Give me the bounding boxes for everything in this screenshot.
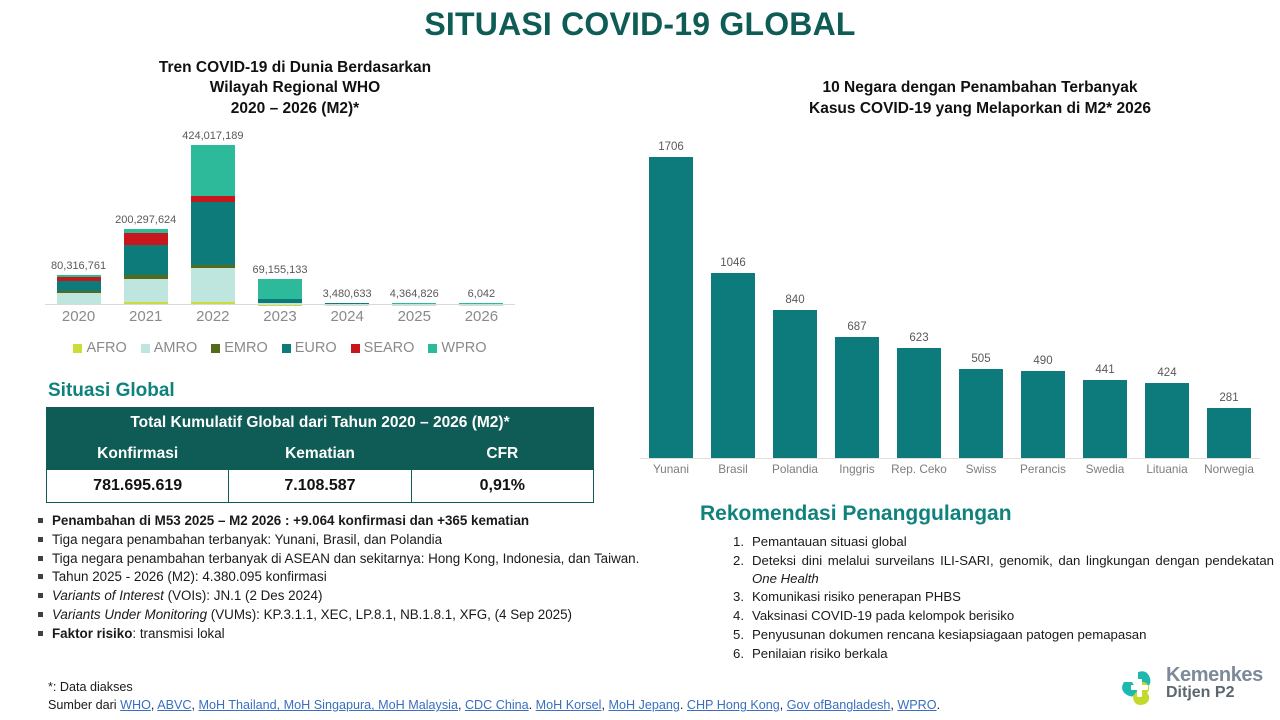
left-chart-title: Tren COVID-19 di Dunia Berdasarkan Wilay… [60,58,530,119]
kemenkes-logo: Kemenkes Ditjen P2 [1118,668,1278,720]
x-axis-label: 2025 [381,308,448,325]
bar [1021,371,1065,458]
legend-item-euro: EURO [282,340,337,356]
bar-stack [124,229,168,305]
bar-group: 505 [950,353,1012,458]
bar-segment-amro [124,279,168,303]
bar-total-label: 6,042 [468,288,496,300]
source-separator: , [780,698,787,712]
bar-group: 6,042 [448,288,515,305]
rekomendasi-item: 6.Penilaian risiko berkala [722,645,1274,663]
situasi-global-heading: Situasi Global [48,380,175,402]
bar-segment-euro [124,245,168,275]
legend-item-amro: AMRO [141,340,198,356]
bar-group: 424,017,189 [179,130,246,305]
legend-item-searo: SEARO [351,340,415,356]
bullet-text: Tiga negara penambahan terbanyak di ASEA… [52,551,639,566]
source-line-2: Sumber dari WHO, ABVC, MoH Thailand, MoH… [48,696,1108,714]
bar-group: 840 [764,294,826,458]
rekomendasi-item: 4.Vaksinasi COVID-19 pada kelompok beris… [722,607,1274,625]
bar-total-label: 69,155,133 [252,264,307,276]
bullet-item: Tahun 2025 - 2026 (M2): 4.380.095 konfir… [32,568,700,586]
bullet-item: Tiga negara penambahan terbanyak: Yunani… [32,531,700,549]
x-axis-label: Swiss [950,462,1012,476]
source-link[interactable]: MoH Korsel [536,698,602,712]
bar [835,337,879,458]
source-separator: , [192,698,199,712]
rekomendasi-item: 5.Penyusunan dokumen rencana kesiapsiaga… [722,626,1274,644]
bar [1145,383,1189,458]
rekomendasi-item: 1.Pemantauan situasi global [722,533,1274,551]
source-separator: . [680,698,687,712]
left-chart-title-line-1: Tren COVID-19 di Dunia Berdasarkan [60,58,530,78]
bar-segment-euro [57,281,101,291]
bar-total-label: 4,364,826 [390,288,439,300]
bar-value-label: 490 [1033,355,1052,367]
source-link[interactable]: Gov ofBangladesh [787,698,891,712]
source-separator: . [937,698,941,712]
top10-bar-chart: 17061046840687623505490441424281 [640,118,1260,458]
legend-swatch-icon [141,344,150,353]
bar-total-label: 200,297,624 [115,214,176,226]
bar-group: 623 [888,332,950,458]
x-axis-label: 2022 [179,308,246,325]
bar-value-label: 687 [847,321,866,333]
rekomendasi-list: 1.Pemantauan situasi global2.Deteksi din… [722,533,1274,664]
legend-label: SEARO [364,340,415,356]
x-axis-label: Norwegia [1198,462,1260,476]
legend-swatch-icon [211,344,220,353]
situasi-bullet-list: Penambahan di M53 2025 – M2 2026 : +9.06… [32,512,700,644]
stacked-bar-chart: 80,316,761200,297,624424,017,18969,155,1… [45,120,515,305]
bar [1207,408,1251,458]
right-chart-title-line-2: Kasus COVID-19 yang Melaporkan di M2* 20… [690,99,1270,120]
source-link[interactable]: CHP Hong Kong [687,698,780,712]
source-link[interactable]: WPRO [897,698,936,712]
bar [1083,380,1127,458]
rekomendasi-italic-suffix: One Health [752,571,819,586]
right-chart-title-line-1: 10 Negara dengan Penambahan Terbanyak [690,78,1270,99]
legend-label: EMRO [224,340,268,356]
bar-group: 281 [1198,392,1260,458]
bar-value-label: 1706 [658,141,684,153]
x-axis-label: Polandia [764,462,826,476]
rekomendasi-heading: Rekomendasi Penanggulangan [700,502,1012,526]
bar-total-label: 424,017,189 [182,130,243,142]
rekomendasi-number: 5. [722,626,744,644]
x-axis-label: Inggris [826,462,888,476]
x-axis-label: 2020 [45,308,112,325]
bullet-text: Tahun 2025 - 2026 (M2): 4.380.095 konfir… [52,569,327,584]
bullet-text: Penambahan di M53 2025 – M2 2026 : +9.06… [52,513,529,528]
bar-total-label: 80,316,761 [51,260,106,272]
bullet-item: Variants of Interest (VOIs): JN.1 (2 Des… [32,587,700,605]
bar-stack [57,275,101,305]
x-axis-label: Rep. Ceko [888,462,950,476]
right-chart-axis [640,458,1260,459]
bar-value-label: 1046 [720,257,746,269]
bar-segment-searo [124,233,168,245]
x-axis-label: Brasil [702,462,764,476]
bar [711,273,755,458]
legend-item-afro: AFRO [73,340,126,356]
bar-group: 1706 [640,141,702,458]
bar [959,369,1003,458]
bar-value-label: 623 [909,332,928,344]
source-link[interactable]: WHO [120,698,151,712]
bullet-item: Faktor risiko: transmisi lokal [32,625,700,643]
table-header-row: Konfirmasi Kematian CFR [47,439,594,470]
bar [649,157,693,458]
table-header-kematian: Kematian [229,439,411,470]
bar-segment-amro [191,268,235,302]
source-note: *: Data diakses Sumber dari WHO, ABVC, M… [48,678,1108,715]
bar-stack [258,279,302,305]
source-separator: . [529,698,536,712]
rekomendasi-number: 1. [722,533,744,551]
legend-swatch-icon [73,344,82,353]
bullet-text: (VUMs): KP.3.1.1, XEC, LP.8.1, NB.1.8.1,… [207,607,572,622]
legend-item-emro: EMRO [211,340,268,356]
left-chart-title-line-3: 2020 – 2026 (M2)* [60,99,530,119]
x-axis-label: Lituania [1136,462,1198,476]
table-title-row: Total Kumulatif Global dari Tahun 2020 –… [47,408,594,439]
table-header-cfr: CFR [411,439,593,470]
bullet-item: Penambahan di M53 2025 – M2 2026 : +9.06… [32,512,700,530]
legend-swatch-icon [428,344,437,353]
bullet-item: Variants Under Monitoring (VUMs): KP.3.1… [32,606,700,624]
rekomendasi-text: Deteksi dini melalui surveilans ILI-SARI… [752,553,1274,568]
bar-segment-euro [191,202,235,265]
bar-segment-wpro [191,145,235,196]
kemenkes-mark-icon [1118,668,1162,712]
bar [773,310,817,458]
legend-label: AMRO [154,340,198,356]
rekomendasi-number: 3. [722,588,744,606]
bullet-text: Tiga negara penambahan terbanyak: Yunani… [52,532,442,547]
bar-stack [191,145,235,305]
logo-text-ditjen: Ditjen P2 [1166,684,1234,702]
bar-segment-wpro [258,279,302,299]
legend-swatch-icon [282,344,291,353]
bar-value-label: 441 [1095,364,1114,376]
rekomendasi-text: Penilaian risiko berkala [752,646,888,661]
rekomendasi-text: Pemantauan situasi global [752,534,907,549]
right-chart-title: 10 Negara dengan Penambahan Terbanyak Ka… [690,78,1270,120]
legend-label: EURO [295,340,337,356]
left-chart-legend: AFROAMROEMROEUROSEAROWPRO [45,340,515,356]
bullet-italic-prefix: Variants of Interest [52,588,164,603]
rekomendasi-number: 6. [722,645,744,663]
left-chart-axis [45,304,515,305]
source-link[interactable]: MoH Jepang [608,698,679,712]
rekomendasi-number: 2. [722,552,744,570]
bar-group: 424 [1136,367,1198,458]
table-value-cfr: 0,91% [411,470,593,503]
table-row: 781.695.619 7.108.587 0,91% [47,470,594,503]
left-chart-x-axis-labels: 2020202120222023202420252026 [45,308,515,332]
table-value-konfirmasi: 781.695.619 [47,470,229,503]
legend-label: AFRO [86,340,126,356]
bar-group: 69,155,133 [246,264,313,305]
slide-root: SITUASI COVID-19 GLOBAL Tren COVID-19 di… [0,0,1280,720]
x-axis-label: Perancis [1012,462,1074,476]
rekomendasi-item: 2.Deteksi dini melalui surveilans ILI-SA… [722,552,1274,588]
table-title-cell: Total Kumulatif Global dari Tahun 2020 –… [47,408,594,439]
legend-label: WPRO [441,340,486,356]
source-link[interactable]: CDC China [465,698,529,712]
bullet-italic-prefix: Variants Under Monitoring [52,607,207,622]
source-link[interactable]: MoH Thailand, MoH Singapura, MoH Malaysi… [199,698,458,712]
rekomendasi-text: Penyusunan dokumen rencana kesiapsiagaan… [752,627,1146,642]
rekomendasi-number: 4. [722,607,744,625]
table-header-konfirmasi: Konfirmasi [47,439,229,470]
x-axis-label: 2024 [314,308,381,325]
bar-segment-amro [57,293,101,305]
source-prefix: Sumber dari [48,698,120,712]
bar-total-label: 3,480,633 [323,288,372,300]
bar-group: 3,480,633 [314,288,381,305]
bullet-text: (VOIs): JN.1 (2 Des 2024) [164,588,323,603]
bar-value-label: 840 [785,294,804,306]
x-axis-label: 2023 [246,308,313,325]
bar-value-label: 281 [1219,392,1238,404]
bar-value-label: 424 [1157,367,1176,379]
x-axis-label: Swedia [1074,462,1136,476]
table-value-kematian: 7.108.587 [229,470,411,503]
source-separator: , [458,698,465,712]
bar-group: 80,316,761 [45,260,112,305]
rekomendasi-text: Vaksinasi COVID-19 pada kelompok berisik… [752,608,1014,623]
bar-group: 687 [826,321,888,458]
left-chart-title-line-2: Wilayah Regional WHO [60,78,530,98]
bar-group: 4,364,826 [381,288,448,305]
global-summary-table: Total Kumulatif Global dari Tahun 2020 –… [46,407,594,503]
bullet-text: : transmisi lokal [132,626,224,641]
bar-group: 441 [1074,364,1136,458]
bar [897,348,941,458]
x-axis-label: 2021 [112,308,179,325]
bar-group: 200,297,624 [112,214,179,305]
rekomendasi-text: Komunikasi risiko penerapan PHBS [752,589,961,604]
bullet-bold-prefix: Faktor risiko [52,626,132,641]
legend-item-wpro: WPRO [428,340,486,356]
x-axis-label: Yunani [640,462,702,476]
source-link[interactable]: ABVC [157,698,191,712]
rekomendasi-item: 3.Komunikasi risiko penerapan PHBS [722,588,1274,606]
right-chart-x-axis-labels: YunaniBrasilPolandiaInggrisRep. CekoSwis… [640,462,1260,482]
bar-group: 1046 [702,257,764,458]
bar-group: 490 [1012,355,1074,458]
source-line-1: *: Data diakses [48,678,1108,696]
legend-swatch-icon [351,344,360,353]
x-axis-label: 2026 [448,308,515,325]
page-title: SITUASI COVID-19 GLOBAL [0,6,1280,43]
bullet-item: Tiga negara penambahan terbanyak di ASEA… [32,550,700,568]
bar-value-label: 505 [971,353,990,365]
